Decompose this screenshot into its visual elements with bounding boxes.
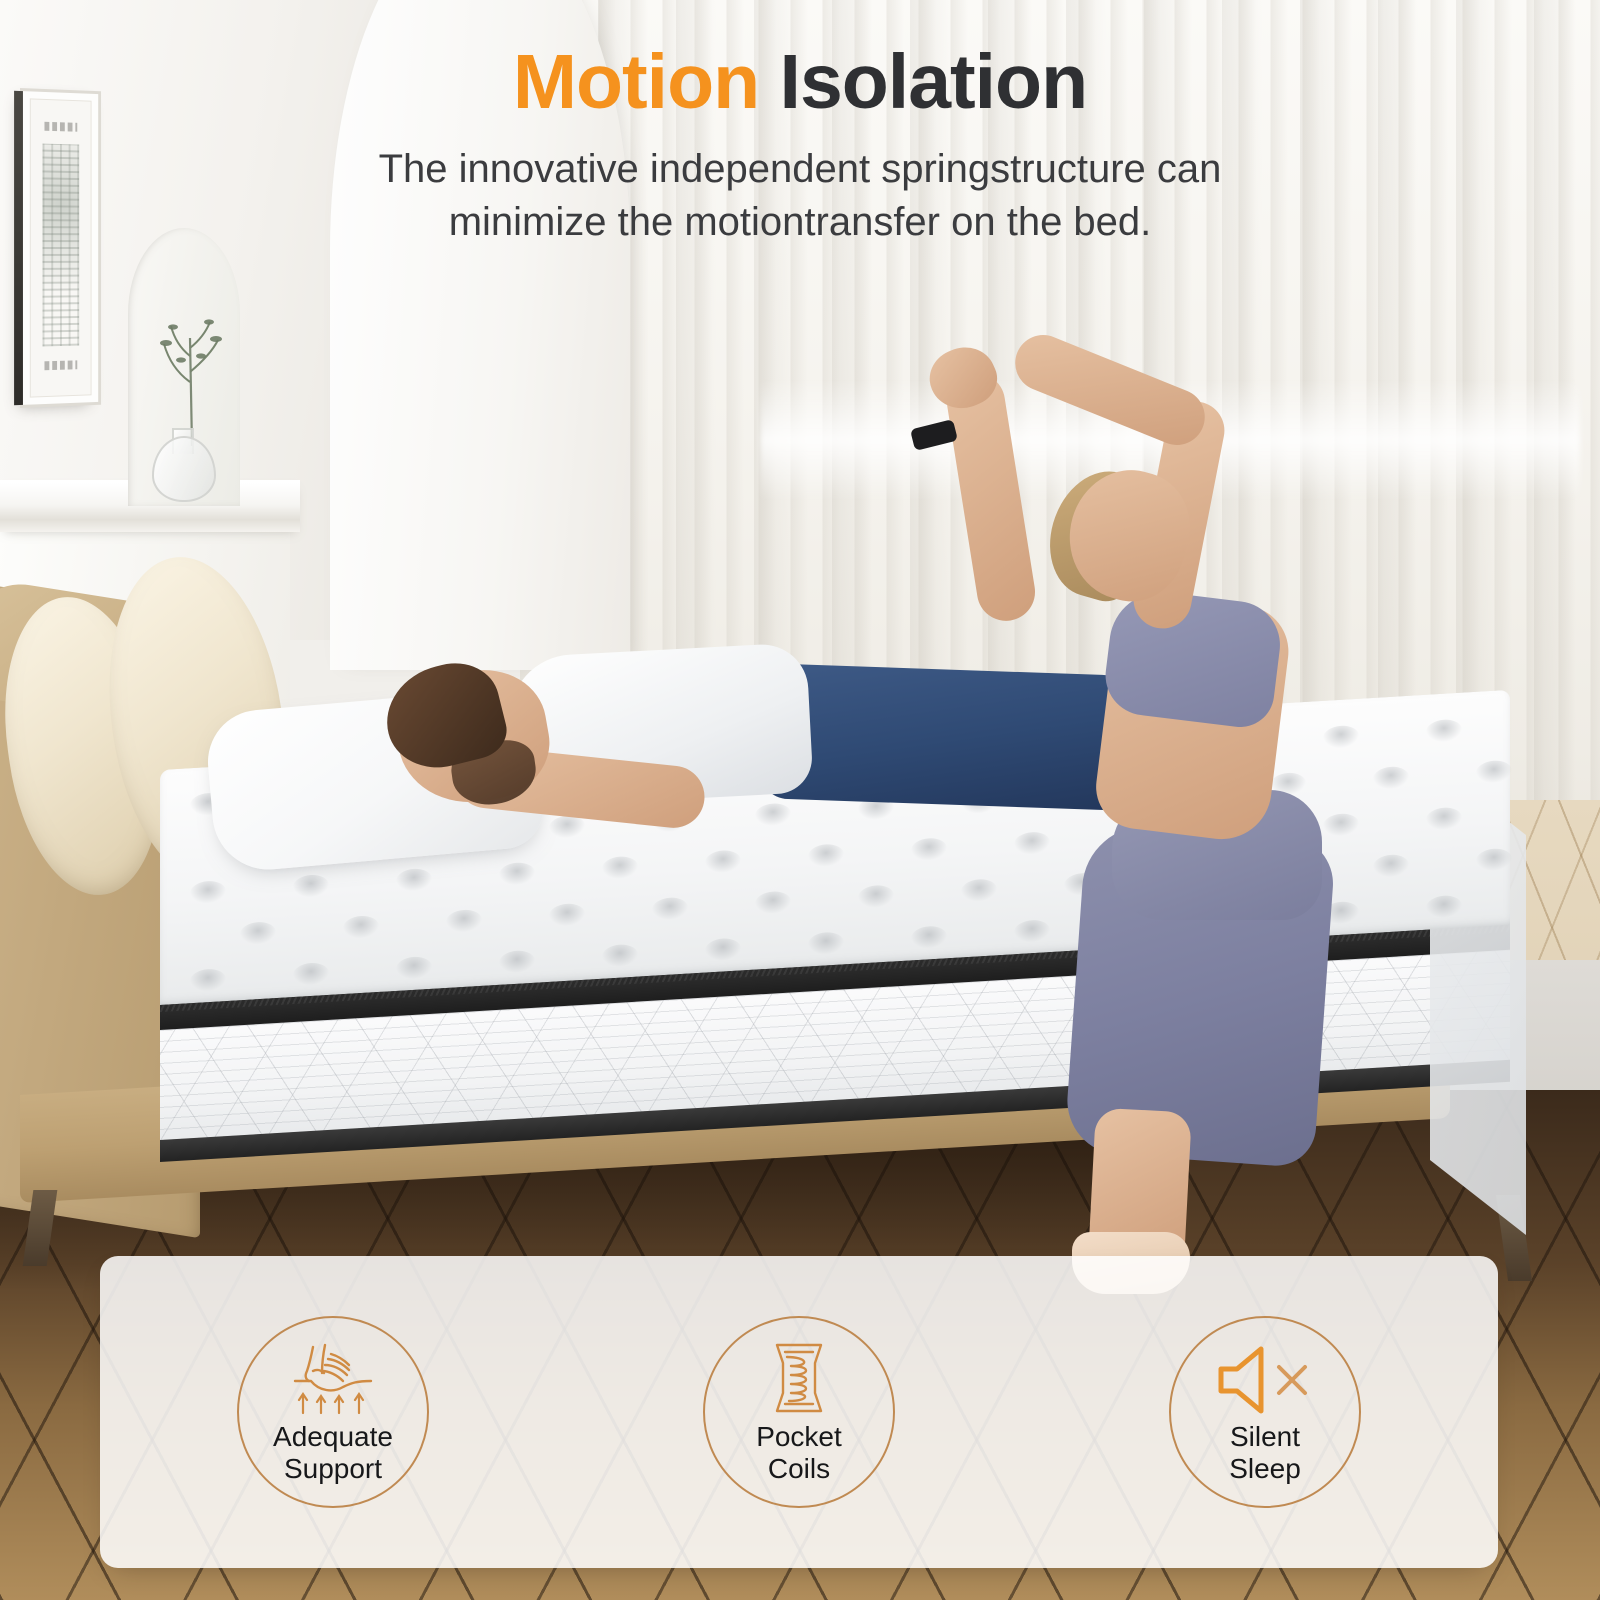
- label-line-2: Coils: [756, 1453, 842, 1485]
- mattress-dimple: [652, 897, 688, 921]
- badge-label: Pocket Coils: [756, 1421, 842, 1486]
- mattress-dimple: [911, 837, 947, 861]
- mattress-dimple: [240, 921, 276, 945]
- mattress-dimple: [911, 925, 947, 949]
- mattress-dimple: [293, 874, 329, 898]
- label-line-1: Pocket: [756, 1421, 842, 1453]
- mattress-dimple: [755, 891, 791, 915]
- subtitle-line-1: The innovative independent springstructu…: [0, 143, 1600, 196]
- branch-icon: [146, 296, 232, 446]
- mattress-dimple: [1373, 854, 1409, 878]
- mattress-dimple: [549, 815, 585, 839]
- badge-label: Adequate Support: [273, 1421, 393, 1486]
- mattress-dimple: [190, 968, 226, 992]
- mattress-dimple: [1014, 919, 1050, 943]
- wall-niche: [128, 228, 240, 506]
- mattress-dimple: [961, 878, 997, 902]
- mattress-dimple: [602, 944, 638, 968]
- mattress-dimple: [755, 803, 791, 827]
- art-caption-bottom: [44, 360, 77, 370]
- mattress-dimple: [808, 843, 844, 867]
- badge-silent-sleep: Silent Sleep: [1169, 1316, 1361, 1508]
- pocket-coil-spring-icon: [763, 1339, 835, 1417]
- feature-adequate-support: Adequate Support: [100, 1316, 566, 1508]
- mattress-dimple: [396, 956, 432, 980]
- mattress-dimple: [1426, 719, 1462, 743]
- subtitle-line-2: minimize the motiontransfer on the bed.: [0, 196, 1600, 249]
- mattress-dimple: [396, 868, 432, 892]
- mattress-dimple: [1426, 807, 1462, 831]
- label-line-2: Sleep: [1229, 1453, 1301, 1485]
- badge-adequate-support: Adequate Support: [237, 1316, 429, 1508]
- mattress-dimple: [1323, 725, 1359, 749]
- page-subtitle: The innovative independent springstructu…: [0, 143, 1600, 249]
- mattress-dimple: [499, 862, 535, 886]
- hand-pressing-support-icon: [281, 1339, 385, 1417]
- mattress-dimple: [1476, 848, 1512, 872]
- mattress-dimple: [343, 915, 379, 939]
- page-title: Motion Isolation: [0, 0, 1600, 121]
- mattress-dimple: [446, 909, 482, 933]
- feature-panel: Adequate Support: [100, 1256, 1498, 1568]
- mattress-dimple: [858, 884, 894, 908]
- woman-sports-bra: [1101, 586, 1285, 731]
- label-line-2: Support: [273, 1453, 393, 1485]
- mattress-dimple: [1476, 760, 1512, 784]
- mattress-dimple: [808, 931, 844, 955]
- title-accent-word: Motion: [513, 39, 759, 125]
- mattress-dimple: [549, 903, 585, 927]
- badge-pocket-coils: Pocket Coils: [703, 1316, 895, 1508]
- mattress-dimple: [293, 962, 329, 986]
- label-line-1: Silent: [1229, 1421, 1301, 1453]
- mattress-dimple: [1323, 813, 1359, 837]
- header-block: Motion Isolation The innovative independ…: [0, 0, 1600, 249]
- label-line-1: Adequate: [273, 1421, 393, 1453]
- product-feature-image: Motion Isolation The innovative independ…: [0, 0, 1600, 1600]
- mattress-dimple: [705, 849, 741, 873]
- mattress-dimple: [499, 950, 535, 974]
- mattress-dimple: [705, 937, 741, 961]
- muted-speaker-icon: [1215, 1339, 1315, 1417]
- mattress-dimple: [1426, 895, 1462, 919]
- badge-label: Silent Sleep: [1229, 1421, 1301, 1486]
- mattress-dimple: [1014, 831, 1050, 855]
- feature-pocket-coils: Pocket Coils: [566, 1316, 1032, 1508]
- feature-silent-sleep: Silent Sleep: [1032, 1316, 1498, 1508]
- title-rest-word: Isolation: [780, 39, 1088, 125]
- mattress-dimple: [190, 880, 226, 904]
- mattress-dimple: [602, 856, 638, 880]
- mattress-dimple: [1373, 766, 1409, 790]
